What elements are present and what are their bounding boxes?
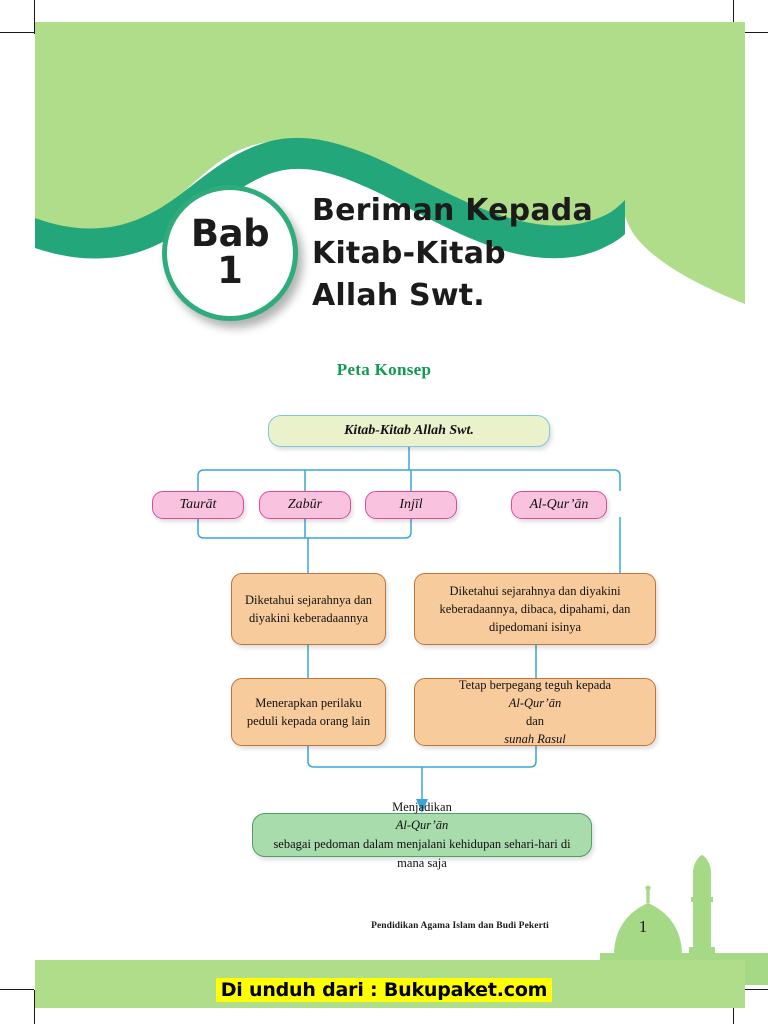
concept-node-outcome-left-1: Diketahui sejarahnya dan diyakini kebera… [231,573,386,645]
chapter-title: Beriman Kepada Kitab-Kitab Allah Swt. [312,190,712,318]
chapter-title-line-2: Kitab-Kitab [312,233,712,276]
page-section-heading: Peta Konsep [0,360,768,380]
concept-node-conclusion: Menjadikan Al-Qur’ān sebagai pedoman dal… [252,813,592,857]
concept-node-zabur-label: Zabūr [288,497,322,513]
outcome-right-2-emphasis-1: Al-Qur’ān [509,696,562,710]
chapter-title-line-3: Allah Swt. [312,275,712,318]
concept-node-outcome-left-2: Menerapkan perilaku peduli kepada orang … [231,678,386,746]
concept-node-taurat: Taurāt [152,491,244,519]
concept-node-outcome-left-2-label: Menerapkan perilaku peduli kepada orang … [240,694,377,730]
chapter-title-line-1: Beriman Kepada [312,190,712,233]
chapter-badge: Bab 1 [162,185,298,321]
concept-node-conclusion-label: Menjadikan Al-Qur’ān sebagai pedoman dal… [263,798,581,873]
outcome-right-2-text-mid: dan [459,712,611,730]
download-watermark-label: Di unduh dari : Bukupaket.com [216,978,553,1002]
chapter-badge-number: 1 [217,252,243,290]
concept-node-zabur: Zabūr [259,491,351,519]
conclusion-text-pre: Menjadikan [263,798,581,817]
concept-node-outcome-left-1-label: Diketahui sejarahnya dan diyakini kebera… [240,591,377,627]
textbook-page: Bab 1 Beriman Kepada Kitab-Kitab Allah S… [0,0,768,1024]
concept-map: Kitab-Kitab Allah Swt. Taurāt Zabūr Injī… [0,395,768,865]
concept-node-root: Kitab-Kitab Allah Swt. [268,415,550,447]
footer-running-title: Pendidikan Agama Islam dan Budi Pekerti [300,921,620,931]
concept-node-outcome-right-1: Diketahui sejarahnya dan diyakini kebera… [414,573,656,645]
outcome-right-2-emphasis-2: sunah Rasul [504,732,565,746]
page-number: 1 [625,917,661,937]
concept-node-injil: Injīl [365,491,457,519]
concept-node-outcome-right-2-label: Tetap berpegang teguh kepada Al-Qur’ān d… [459,676,611,749]
concept-node-outcome-right-2: Tetap berpegang teguh kepada Al-Qur’ān d… [414,678,656,746]
concept-node-outcome-right-1-label: Diketahui sejarahnya dan diyakini kebera… [423,582,647,636]
download-watermark: Di unduh dari : Bukupaket.com [0,979,768,1001]
chapter-badge-word: Bab [191,216,269,252]
concept-node-root-label: Kitab-Kitab Allah Swt. [344,423,474,439]
outcome-right-2-text-pre: Tetap berpegang teguh kepada [459,676,611,694]
conclusion-emphasis: Al-Qur’ān [396,818,449,832]
concept-node-alquran: Al-Qur’ān [511,491,607,519]
conclusion-text-post: sebagai pedoman dalam menjalani kehidupa… [263,835,581,873]
concept-node-alquran-label: Al-Qur’ān [530,497,589,513]
concept-node-taurat-label: Taurāt [180,497,217,513]
concept-node-injil-label: Injīl [399,497,422,513]
crop-mark-top-left-horizontal [0,32,34,33]
